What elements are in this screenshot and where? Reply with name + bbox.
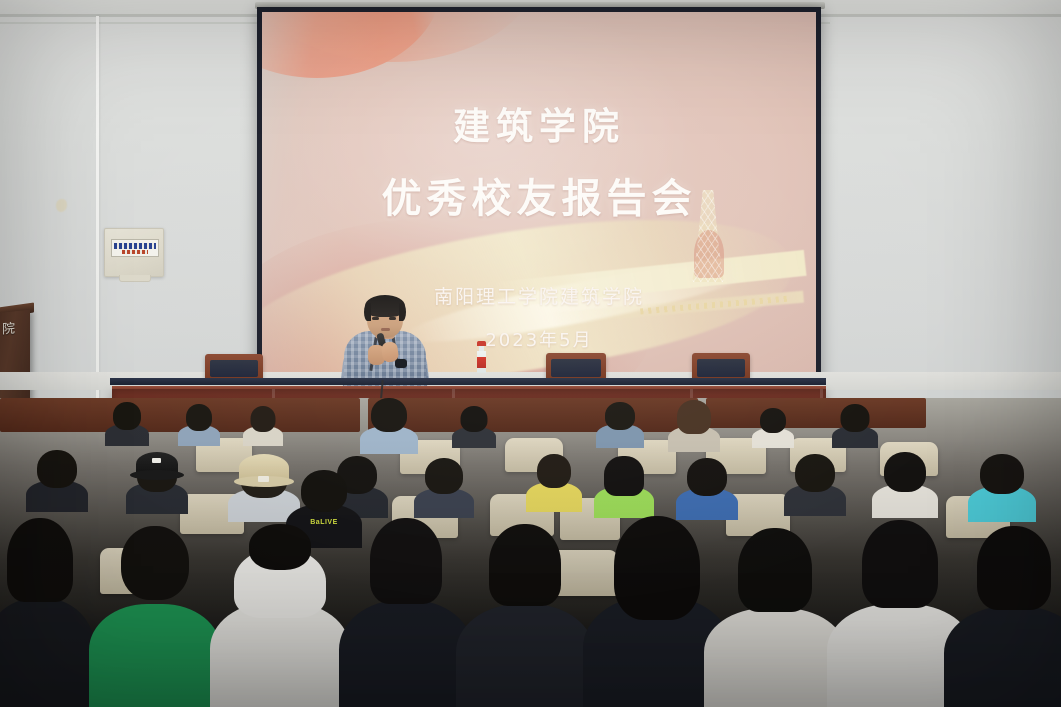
person-head — [795, 454, 835, 492]
rear-desk-3 — [706, 398, 926, 428]
audience-person-n5 — [468, 524, 582, 707]
audience-person-m6-yellow — [526, 454, 582, 512]
person-head — [113, 402, 141, 430]
audience-person-f5 — [452, 406, 496, 448]
person-head — [884, 452, 926, 492]
podium-label: 院 — [2, 317, 17, 337]
person-shoulders — [944, 606, 1061, 707]
electrical-panel — [104, 228, 164, 277]
audience-person-f2 — [178, 404, 220, 446]
person-head — [977, 526, 1051, 610]
speaker-brow-left — [371, 313, 380, 315]
person-shoulders — [0, 598, 95, 707]
person-head — [677, 400, 711, 434]
audience-area: BaLIVE — [0, 398, 1061, 707]
bottle-label — [477, 357, 486, 368]
person-head — [251, 406, 276, 432]
speaker-brow-right — [388, 313, 397, 315]
panel-foot — [119, 275, 151, 282]
audience-person-n8-white — [840, 520, 960, 707]
person-shoulders — [704, 608, 846, 707]
audience-person-n2-green — [100, 526, 210, 707]
panel-breaker-row-top — [114, 243, 156, 249]
panel-window — [111, 239, 159, 257]
audience-person-f4 — [360, 398, 418, 454]
audience-person-m5 — [414, 458, 474, 518]
audience-person-n9 — [956, 526, 1061, 707]
audience-person-n1 — [0, 518, 88, 707]
speaker-wristwatch — [395, 359, 407, 368]
cap-logo — [152, 458, 161, 463]
chair-cushion — [551, 359, 601, 377]
person-shoulders — [89, 604, 221, 707]
cap-brim — [130, 470, 184, 480]
chair-cushion — [210, 360, 258, 377]
speaker-hair-right — [399, 303, 406, 321]
chair-cushion — [697, 359, 745, 377]
cap-logo — [258, 476, 269, 482]
person-head — [371, 398, 407, 432]
audience-person-m11-cyan — [968, 454, 1036, 522]
person-head — [37, 450, 77, 488]
person-head — [604, 456, 644, 496]
person-head — [370, 518, 442, 604]
person-head — [7, 518, 73, 602]
person-head — [605, 402, 635, 430]
audience-person-n3-white-hoodie — [222, 524, 338, 707]
audience-person-n7-white — [716, 528, 834, 707]
audience-person-m9 — [784, 454, 846, 516]
person-head — [461, 406, 488, 432]
audience-person-m7-lime — [594, 456, 654, 518]
person-head — [841, 404, 870, 432]
speaker-eye-left — [372, 317, 379, 320]
audience-person-f7 — [668, 400, 720, 452]
audience-person-f8 — [752, 408, 794, 448]
person-head — [301, 470, 347, 512]
stage-chair-3 — [692, 353, 750, 380]
person-head — [614, 516, 700, 620]
person-head — [760, 408, 786, 433]
person-head — [687, 458, 727, 496]
person-head — [980, 454, 1024, 494]
speaker-eye-right — [389, 317, 396, 320]
audience-person-m10-white — [872, 452, 938, 518]
person-head — [862, 520, 938, 608]
wall-seam-left — [96, 16, 99, 416]
audience-person-n6-longhair — [596, 516, 718, 707]
person-head — [121, 526, 189, 600]
audience-person-f1 — [105, 402, 149, 446]
stage-rail — [110, 378, 826, 385]
audience-person-m2-cap — [126, 452, 188, 514]
person-head — [425, 458, 463, 494]
speaker-mouth — [381, 328, 390, 331]
lecture-hall-photo: 院 建筑学院 优秀校友报告会 南阳理工学院建筑学院 2023年5月 — [0, 0, 1061, 707]
audience-person-n4 — [350, 518, 462, 707]
water-bottle-center — [477, 341, 486, 373]
stage-chair-1 — [205, 354, 263, 380]
person-head — [738, 528, 812, 612]
panel-breaker-row-bottom — [122, 250, 148, 254]
person-shoulders — [339, 600, 473, 707]
person-head — [489, 524, 561, 606]
person-head — [186, 404, 212, 431]
person-head — [537, 454, 571, 488]
audience-person-f9 — [832, 404, 878, 448]
audience-person-f6 — [596, 402, 644, 448]
audience-person-m1 — [26, 450, 88, 512]
person-head — [249, 524, 311, 570]
stage-chair-2 — [546, 353, 606, 380]
audience-person-f3 — [243, 406, 283, 446]
person-shoulders — [456, 604, 594, 707]
audience-person-m8-blue — [676, 458, 738, 520]
speaker-hair-left — [364, 303, 371, 321]
